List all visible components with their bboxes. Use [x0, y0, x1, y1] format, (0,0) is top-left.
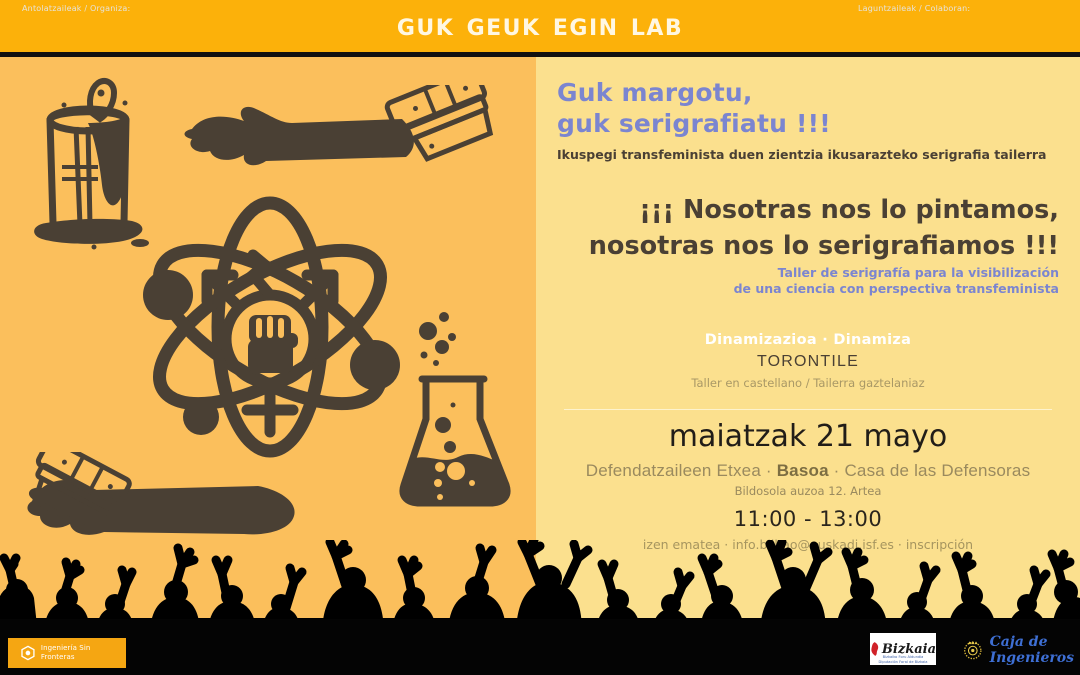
atom-transfeminist-icon — [135, 187, 405, 467]
venue-prefix: Defendatzaileen Etxea · — [586, 461, 777, 480]
caja-crest-icon — [962, 633, 984, 667]
logo-caja-de-ingenieros[interactable]: Caja de Ingenieros — [962, 630, 1074, 670]
event-venue: Defendatzaileen Etxea · Basoa · Casa de … — [536, 461, 1080, 481]
spanish-subtitle: Taller de serigrafía para la visibilizac… — [559, 265, 1059, 297]
bizkaia-subtext: Bizkaiko Foru Aldundia Diputación Foral … — [870, 655, 936, 664]
spanish-heading-line2: nosotras nos lo serigrafiamos !!! — [559, 228, 1059, 264]
illustration-panel — [0, 57, 536, 619]
basque-heading-line1: Guk margotu, — [557, 77, 831, 108]
event-poster: Guk Geuk Egin Lab — [0, 0, 1080, 675]
event-details-block: maiatzak 21 mayo Defendatzaileen Etxea ·… — [536, 419, 1080, 552]
logo-bizkaia[interactable]: Bizkaia Bizkaiko Foru Aldundia Diputació… — [870, 633, 936, 665]
venue-highlight: Basoa — [777, 461, 829, 480]
facilitator-language-note: Taller en castellano / Tailerra gaztelan… — [536, 376, 1080, 390]
info-panel: Guk margotu, guk serigrafiatu !!! Ikuspe… — [536, 57, 1080, 619]
caja-wordmark-line1: Caja de — [990, 634, 1074, 650]
venue-suffix: · Casa de las Defensoras — [829, 461, 1031, 480]
basque-heading-line2: guk serigrafiatu !!! — [557, 108, 831, 139]
isf-name: Ingeniería Sin Fronteras — [41, 644, 126, 662]
logo-ingenieria-sin-fronteras[interactable]: Ingeniería Sin Fronteras — [8, 638, 126, 668]
spanish-heading: ¡¡¡ Nosotras nos lo pintamos, nosotras n… — [559, 192, 1059, 264]
basque-heading: Guk margotu, guk serigrafiatu !!! — [557, 77, 831, 139]
registration-contact: izen ematea · info.bilbao@euskadi.isf.es… — [536, 537, 1080, 552]
section-divider — [564, 409, 1052, 410]
caja-wordmark: Caja de Ingenieros — [990, 634, 1074, 666]
squeegee-top-icon — [170, 85, 510, 195]
event-time: 11:00 - 13:00 — [536, 507, 1080, 531]
organizers-caption: Antolatzaileak / Organiza: — [22, 4, 130, 13]
spanish-subtitle-line1: Taller de serigrafía para la visibilizac… — [559, 265, 1059, 281]
collaborators-caption: Laguntzaileak / Colaboran: — [858, 4, 970, 13]
squeegee-bottom-icon — [8, 452, 338, 567]
facilitator-name: TORONTILE — [536, 353, 1080, 371]
event-address: Bildosola auzoa 12. Artea — [536, 484, 1080, 498]
facilitator-label: Dinamizazioa · Dinamiza — [536, 332, 1080, 348]
caja-wordmark-line2: Ingenieros — [990, 650, 1074, 666]
bizkaia-wordmark: Bizkaia — [882, 643, 936, 656]
page-title: Guk Geuk Egin Lab — [397, 10, 683, 43]
basque-subtitle: Ikuspegi transfeminista duen zientzia ik… — [557, 147, 1046, 162]
event-date: maiatzak 21 mayo — [536, 419, 1080, 454]
spanish-subtitle-line2: de una ciencia con perspectiva transfemi… — [559, 281, 1059, 297]
erlenmeyer-flask-icon — [398, 307, 518, 512]
bizkaia-subtext-line2: Diputación Foral de Bizkaia — [870, 660, 936, 664]
hexagon-gear-icon — [20, 645, 36, 661]
spanish-heading-line1: ¡¡¡ Nosotras nos lo pintamos, — [559, 192, 1059, 228]
facilitator-block: Dinamizazioa · Dinamiza TORONTILE Taller… — [536, 332, 1080, 390]
